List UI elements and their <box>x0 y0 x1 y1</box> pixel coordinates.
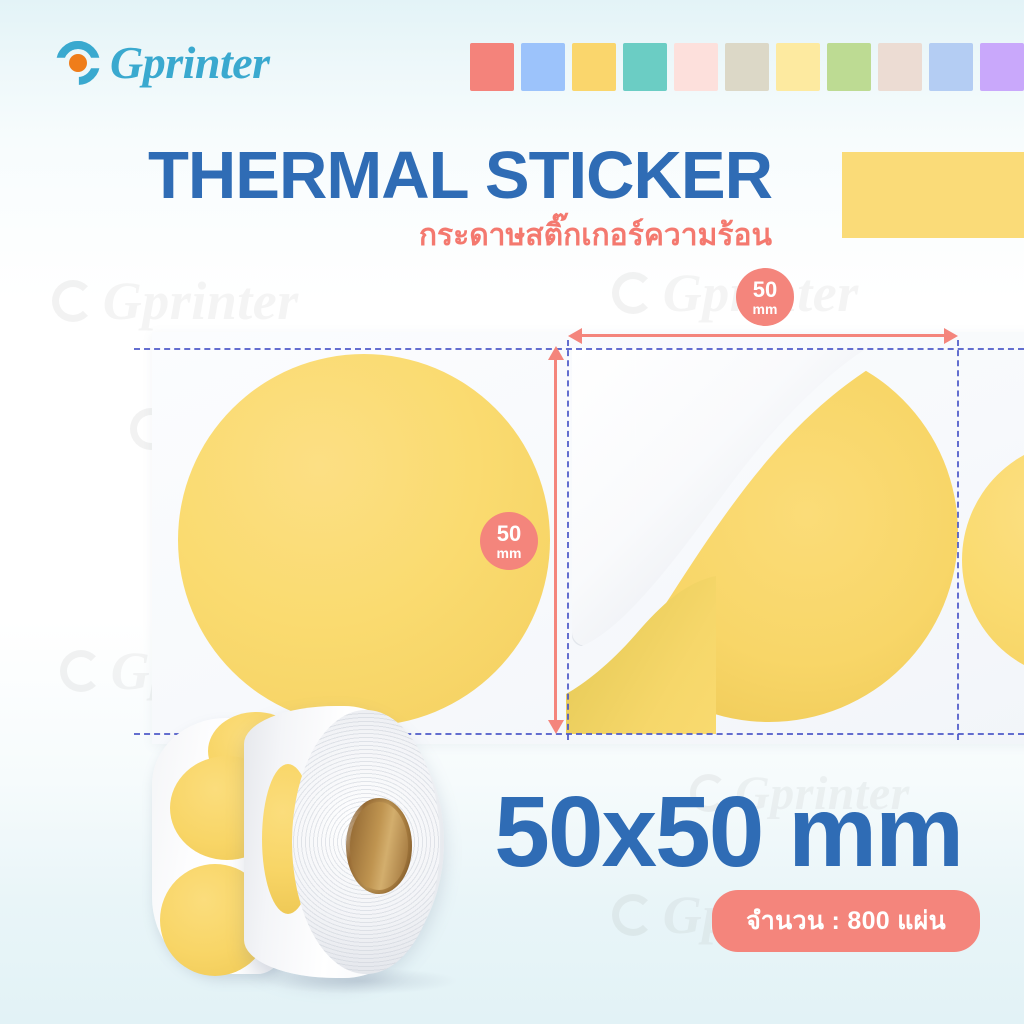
page-header: Gprinter <box>0 0 1024 118</box>
guide-line-right <box>957 340 959 740</box>
sticker-roll-photo <box>150 700 450 1000</box>
brand-name: Gprinter <box>110 40 270 86</box>
swatch-yellow <box>572 43 616 91</box>
brand-logo: Gprinter <box>56 40 270 86</box>
badge-width-value: 50 <box>753 279 777 301</box>
watermark: Gprinter <box>52 270 299 332</box>
badge-height-unit: mm <box>497 546 522 560</box>
color-swatch-strip <box>470 43 1024 91</box>
swatch-blue <box>521 43 565 91</box>
swatch-lemon <box>776 43 820 91</box>
height-arrow-head-bottom <box>548 720 564 734</box>
swatch-pink <box>674 43 718 91</box>
title-block: THERMAL STICKER กระดาษสติ๊กเกอร์ความร้อน <box>148 142 772 254</box>
width-arrow-head-left <box>568 328 582 344</box>
guide-line-top <box>134 348 1024 350</box>
gprinter-g-icon <box>56 41 100 85</box>
badge-height-value: 50 <box>497 523 521 545</box>
height-arrow-line <box>554 358 557 724</box>
swatch-periwinkle <box>929 43 973 91</box>
swatch-teal <box>623 43 667 91</box>
page-subtitle-thai: กระดาษสติ๊กเกอร์ความร้อน <box>148 219 772 254</box>
badge-width-50mm: 50 mm <box>736 268 794 326</box>
roll-core-inner <box>350 802 408 890</box>
page-title: THERMAL STICKER <box>148 142 772 209</box>
guide-line-left <box>567 340 569 740</box>
quantity-badge: จำนวน : 800 แผ่น <box>712 890 980 952</box>
yellow-accent-block <box>842 152 1024 238</box>
height-arrow-head-top <box>548 346 564 360</box>
badge-width-unit: mm <box>753 302 778 316</box>
swatch-beige <box>725 43 769 91</box>
width-arrow-head-right <box>944 328 958 344</box>
width-arrow-line <box>578 334 946 337</box>
swatch-green <box>827 43 871 91</box>
swatch-blush <box>878 43 922 91</box>
swatch-lavender <box>980 43 1024 91</box>
product-size-label: 50x50 mm <box>494 782 962 882</box>
badge-height-50mm: 50 mm <box>480 512 538 570</box>
sticker-circle-peeled <box>566 348 958 734</box>
swatch-coral <box>470 43 514 91</box>
product-banner: Gprinter THERMAL STICKER กระดาษสติ๊กเกอร… <box>0 0 1024 1024</box>
